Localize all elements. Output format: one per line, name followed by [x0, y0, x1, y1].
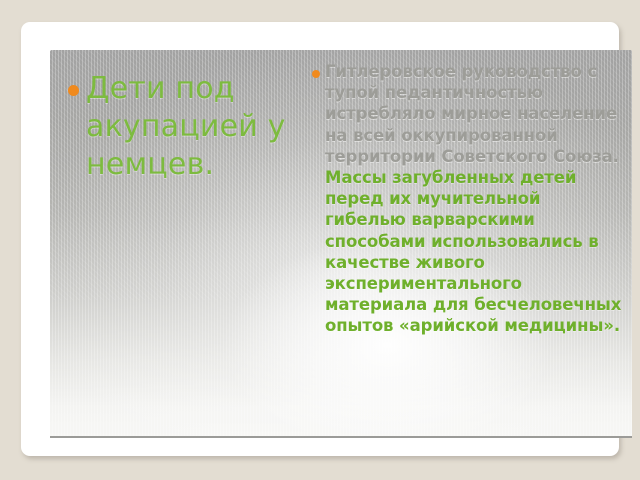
panel-bottom-rule [50, 436, 632, 438]
bullet-dot-icon [312, 70, 320, 78]
slide-card: Дети под акупацией у немцев. Гитлеровско… [21, 22, 619, 456]
right-bullet-item: Гитлеровское руководство с тупой педанти… [312, 61, 626, 337]
paragraph-segment-highlighted: Массы загубленных детей перед их мучител… [325, 168, 621, 335]
slide-title-text: Дети под акупацией у немцев. [86, 70, 286, 184]
left-text-column: Дети под акупацией у немцев. [68, 70, 286, 184]
bullet-dot-icon [68, 85, 79, 96]
slide-content-panel: Дети под акупацией у немцев. Гитлеровско… [50, 50, 632, 438]
right-text-column: Гитлеровское руководство с тупой педанти… [312, 61, 626, 337]
slide-body-paragraph: Гитлеровское руководство с тупой педанти… [325, 61, 626, 337]
left-bullet-item: Дети под акупацией у немцев. [68, 70, 286, 184]
paragraph-segment-muted: Гитлеровское руководство с тупой педанти… [325, 62, 619, 166]
